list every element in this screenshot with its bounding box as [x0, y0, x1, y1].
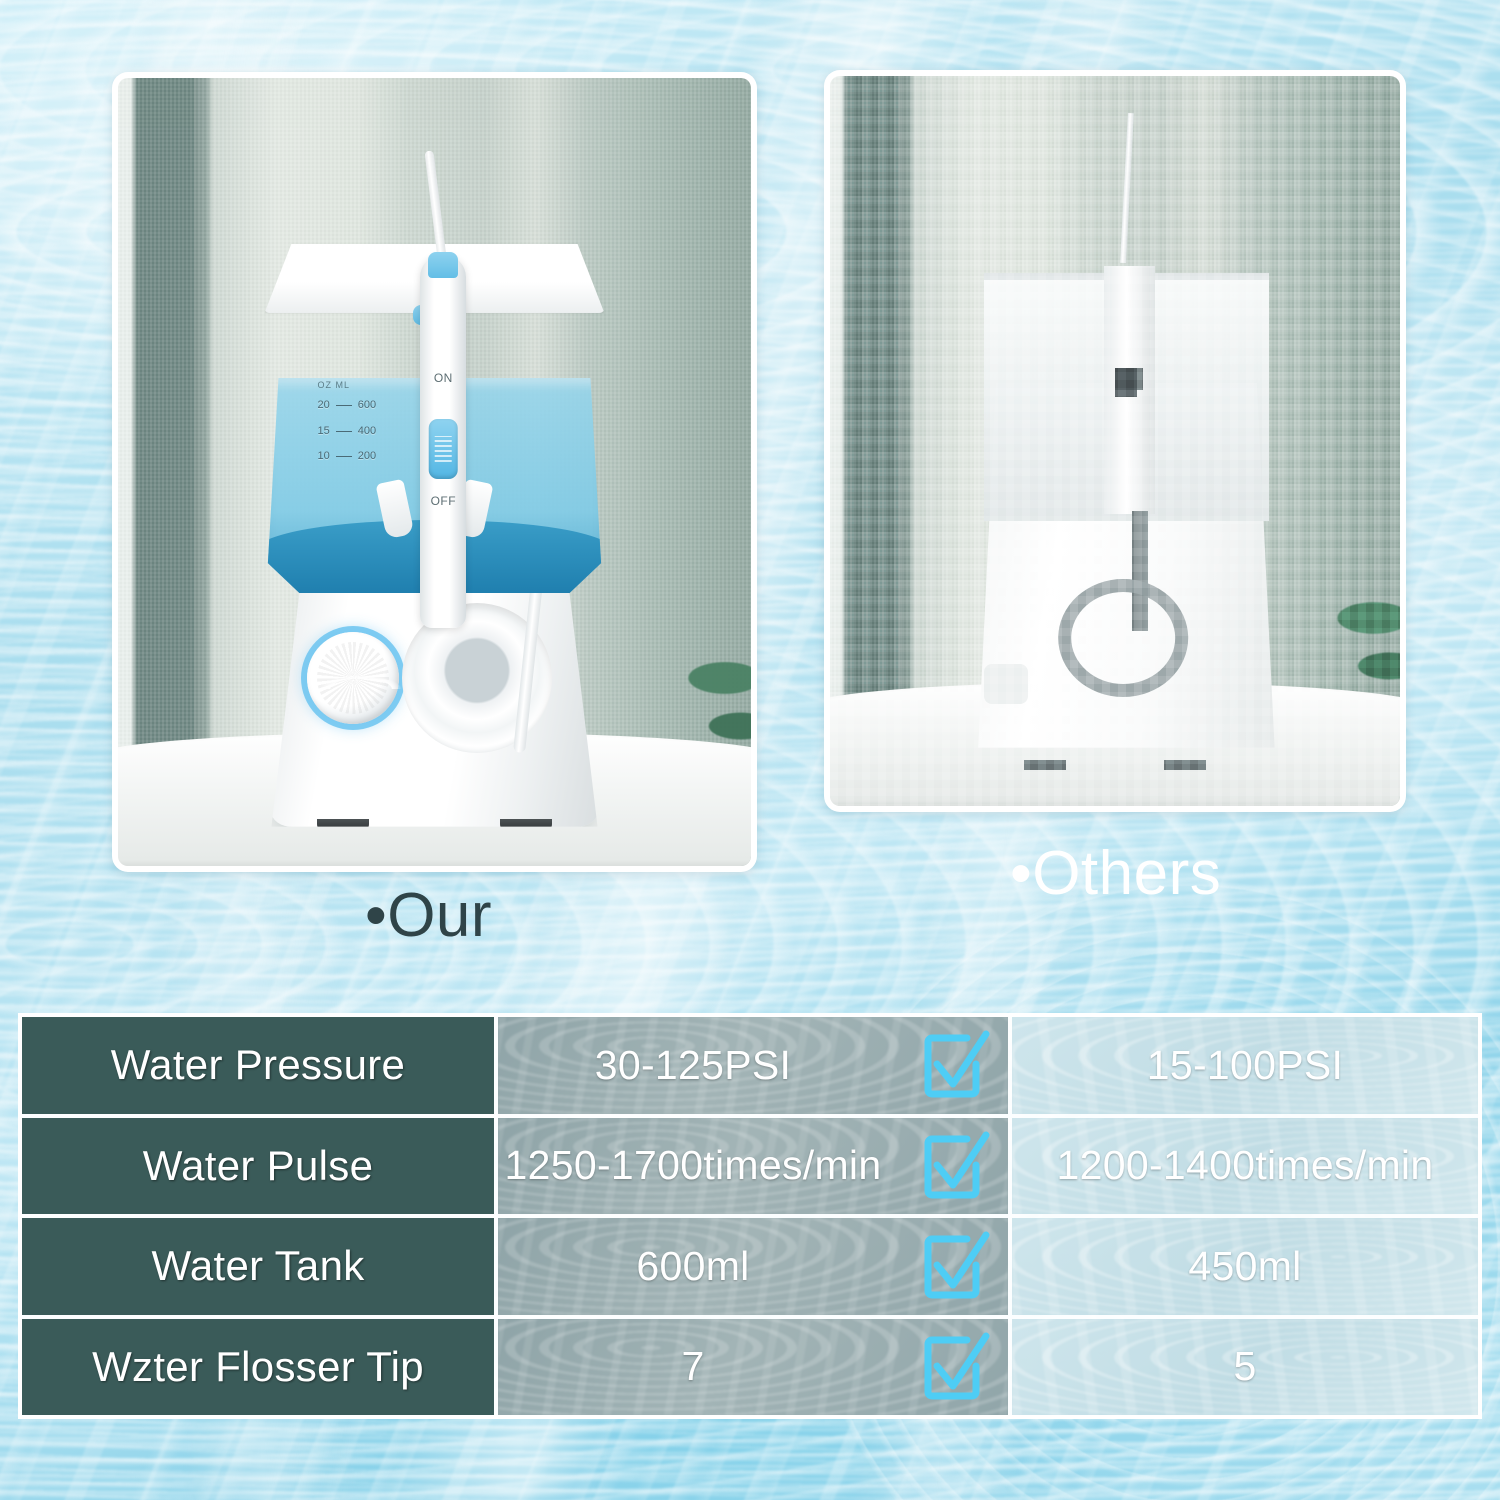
our-value-water-pulse: 1250-1700times/min: [498, 1118, 1008, 1215]
cell-text: Wzter Flosser Tip: [92, 1343, 424, 1391]
cell-text: 15-100PSI: [1147, 1042, 1343, 1089]
our-value-water-pressure: 30-125PSI: [498, 1017, 1008, 1114]
tick-mark-icon: [336, 456, 352, 457]
comparison-table: Water Pressure 30-125PSI 15-100PSI Water…: [18, 1013, 1482, 1419]
cell-text: 7: [681, 1343, 704, 1390]
tank-scale-ml: 600: [358, 399, 376, 412]
handle-on-label: ON: [434, 371, 453, 385]
other-value-water-pulse: 1200-1400times/min: [1012, 1118, 1478, 1215]
tank-scale-oz: 20: [318, 399, 330, 412]
others-flosser-device: [830, 76, 1400, 806]
our-product-photo: OZ ML 20 600 15 400: [112, 72, 757, 872]
checkbox-check-icon: [920, 1129, 990, 1203]
row-label-water-tank: Water Tank: [22, 1218, 494, 1315]
other-value-water-tank: 450ml: [1012, 1218, 1478, 1315]
other-value-water-pressure: 15-100PSI: [1012, 1017, 1478, 1114]
tank-scale-ml: 200: [358, 450, 376, 463]
cell-text: Water Tank: [151, 1242, 364, 1290]
table-row: Water Pulse 1250-1700times/min 1200-1400…: [22, 1118, 1478, 1215]
cell-text: 1200-1400times/min: [1057, 1142, 1434, 1189]
cell-text: 450ml: [1188, 1243, 1301, 1290]
caption-others: •Others: [1010, 838, 1221, 909]
cell-text: Water Pressure: [111, 1041, 405, 1089]
tank-scale-row: 20 600: [318, 399, 377, 412]
flosser-handle: ON OFF: [420, 255, 466, 628]
row-label-water-pulse: Water Pulse: [22, 1118, 494, 1215]
flosser-nozzle-tip: [428, 252, 458, 278]
row-label-water-pressure: Water Pressure: [22, 1017, 494, 1114]
our-value-flosser-tip: 7: [498, 1319, 1008, 1416]
tank-scale-oz: 15: [318, 425, 330, 438]
cell-text: 30-125PSI: [595, 1042, 791, 1089]
others-product-photo-inner: [830, 76, 1400, 806]
our-flosser-device: OZ ML 20 600 15 400: [257, 244, 611, 827]
cell-text: 1250-1700times/min: [505, 1142, 882, 1189]
cell-text: 600ml: [636, 1243, 749, 1290]
handle-off-label: OFF: [431, 494, 457, 508]
tank-scale-row: 15 400: [318, 425, 377, 438]
our-product-photo-inner: OZ ML 20 600 15 400: [118, 78, 751, 866]
other-value-flosser-tip: 5: [1012, 1319, 1478, 1416]
checkbox-check-icon: [920, 1028, 990, 1102]
table-row: Water Pressure 30-125PSI 15-100PSI: [22, 1017, 1478, 1114]
pixelation-overlay: [830, 76, 1400, 806]
tick-mark-icon: [336, 431, 352, 432]
tank-scale-oz: 10: [318, 450, 330, 463]
our-value-water-tank: 600ml: [498, 1218, 1008, 1315]
checkbox-check-icon: [920, 1229, 990, 1303]
tick-mark-icon: [336, 405, 352, 406]
tank-scale-row: 10 200: [318, 450, 377, 463]
checkbox-check-icon: [920, 1330, 990, 1404]
handle-power-switch: [429, 419, 458, 479]
tank-measure-scale: 20 600 15 400 10 200: [318, 399, 377, 476]
caption-our: •Our: [365, 880, 492, 951]
cell-text: 5: [1233, 1343, 1256, 1390]
tank-unit-label: OZ ML: [318, 380, 351, 390]
product-comparison-page: OZ ML 20 600 15 400: [0, 0, 1500, 1500]
table-row: Wzter Flosser Tip 7 5: [22, 1319, 1478, 1416]
table-row: Water Tank 600ml 450ml: [22, 1218, 1478, 1315]
row-label-flosser-tip: Wzter Flosser Tip: [22, 1319, 494, 1416]
others-product-photo: [824, 70, 1406, 812]
cell-text: Water Pulse: [143, 1142, 374, 1190]
tank-scale-ml: 400: [358, 425, 376, 438]
